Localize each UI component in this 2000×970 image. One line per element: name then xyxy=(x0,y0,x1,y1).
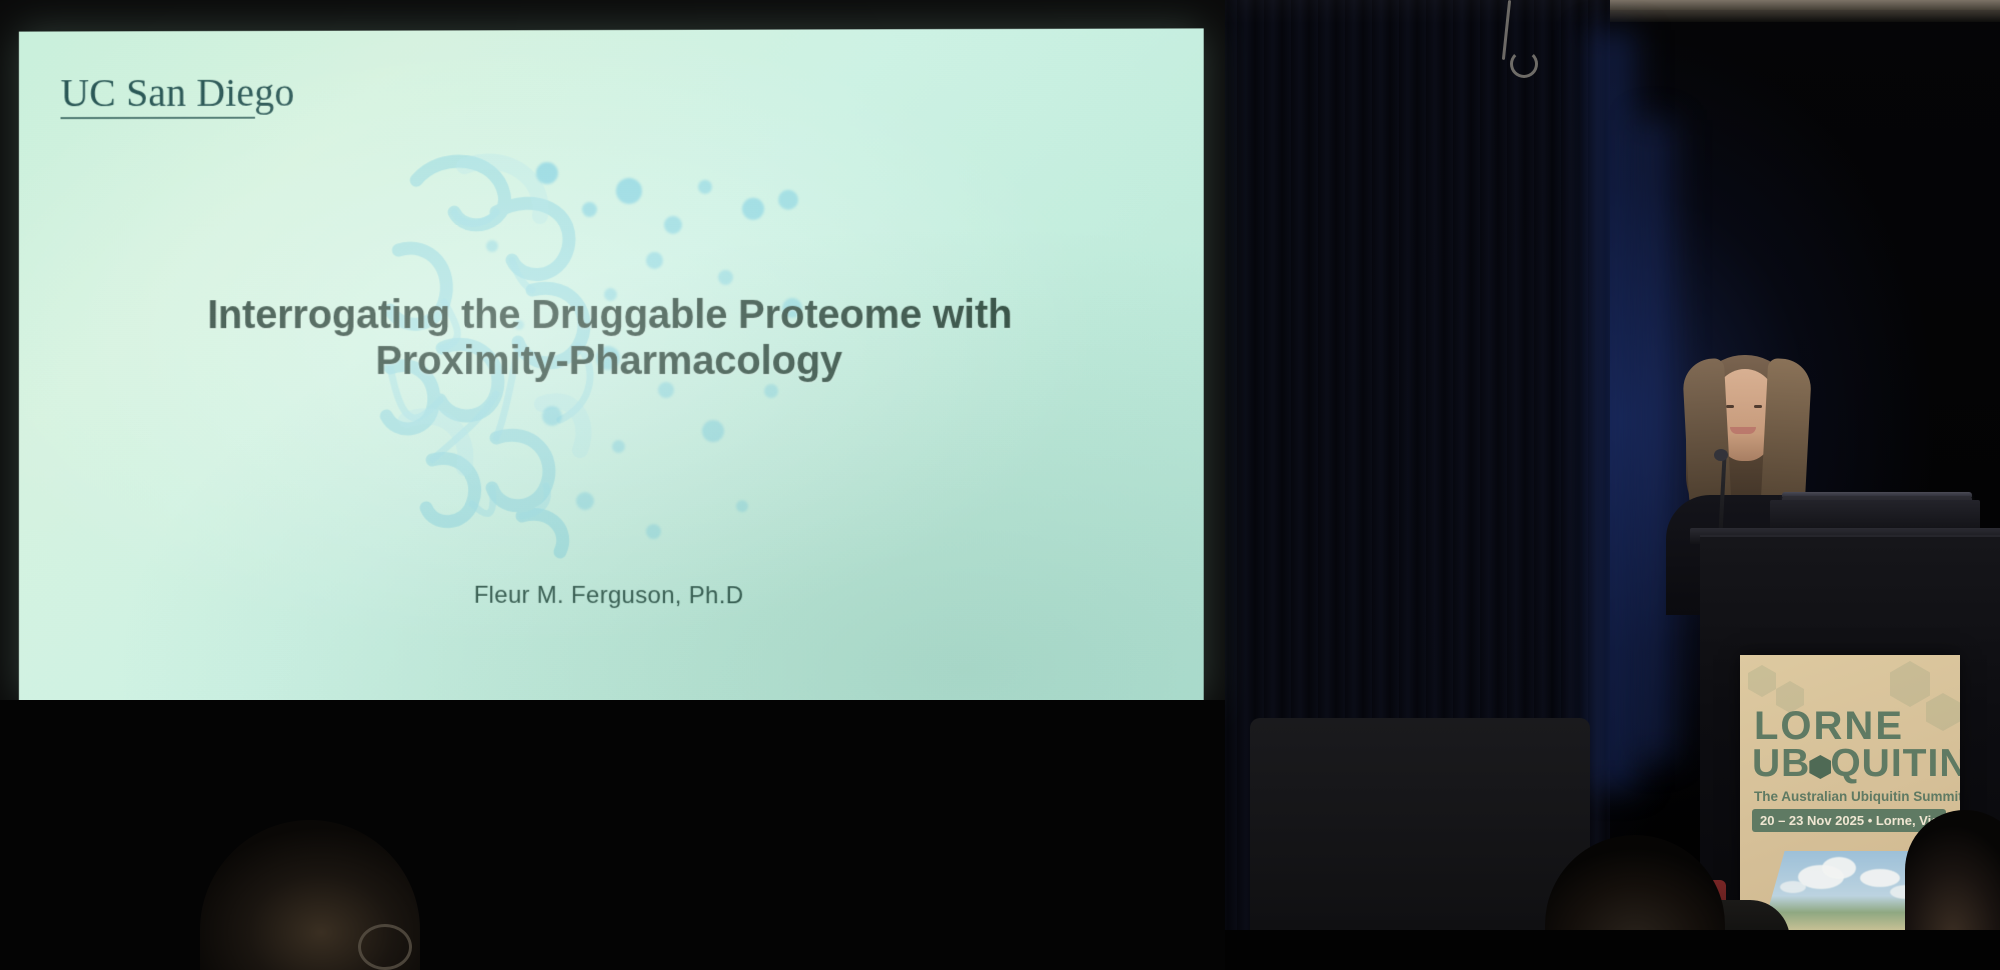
banner-title-lorne: LORNE xyxy=(1754,707,1904,745)
uc-san-diego-logo: UC San Diego xyxy=(61,69,295,119)
hanging-cable-loop xyxy=(1510,50,1538,78)
curtain-blue-light xyxy=(1575,30,1645,790)
hex-decoration-icon xyxy=(1926,693,1960,731)
projection-screen-frame: UC San Diego Interrogating the Druggable… xyxy=(0,0,1225,722)
slide-author: Fleur M. Ferguson, Ph.D xyxy=(19,581,1204,611)
slide-title-line-1: Interrogating the Druggable Proteome wit… xyxy=(98,292,1123,339)
speaker-mouth xyxy=(1730,427,1756,434)
banner-subtitle: The Australian Ubiquitin Summit xyxy=(1754,789,1960,804)
logo-underline xyxy=(61,117,256,119)
speaker-eye-left xyxy=(1726,405,1734,408)
banner-dates: 20 – 23 Nov 2025 • Lorne, Vic xyxy=(1752,809,1946,832)
audience-glasses xyxy=(358,924,412,970)
photo-scene: UC San Diego Interrogating the Druggable… xyxy=(0,0,2000,970)
hex-decoration-icon xyxy=(1748,665,1776,697)
hex-q-icon xyxy=(1809,755,1831,779)
uc-san-diego-logo-text: UC San Diego xyxy=(61,69,295,116)
projected-slide: UC San Diego Interrogating the Druggable… xyxy=(19,28,1204,703)
speaker-eye-right xyxy=(1754,405,1762,408)
slide-title: Interrogating the Druggable Proteome wit… xyxy=(19,292,1204,385)
screen-apron xyxy=(0,700,1225,970)
foreground-shadow xyxy=(1225,930,2000,970)
banner-title-ubiquitin: UBQUITIN xyxy=(1752,745,1960,782)
slide-title-line-2: Proximity-Pharmacology xyxy=(98,338,1123,385)
microphone-head xyxy=(1714,449,1728,461)
hex-decoration-icon xyxy=(1890,661,1930,707)
slide-canvas: UC San Diego Interrogating the Druggable… xyxy=(19,28,1204,703)
